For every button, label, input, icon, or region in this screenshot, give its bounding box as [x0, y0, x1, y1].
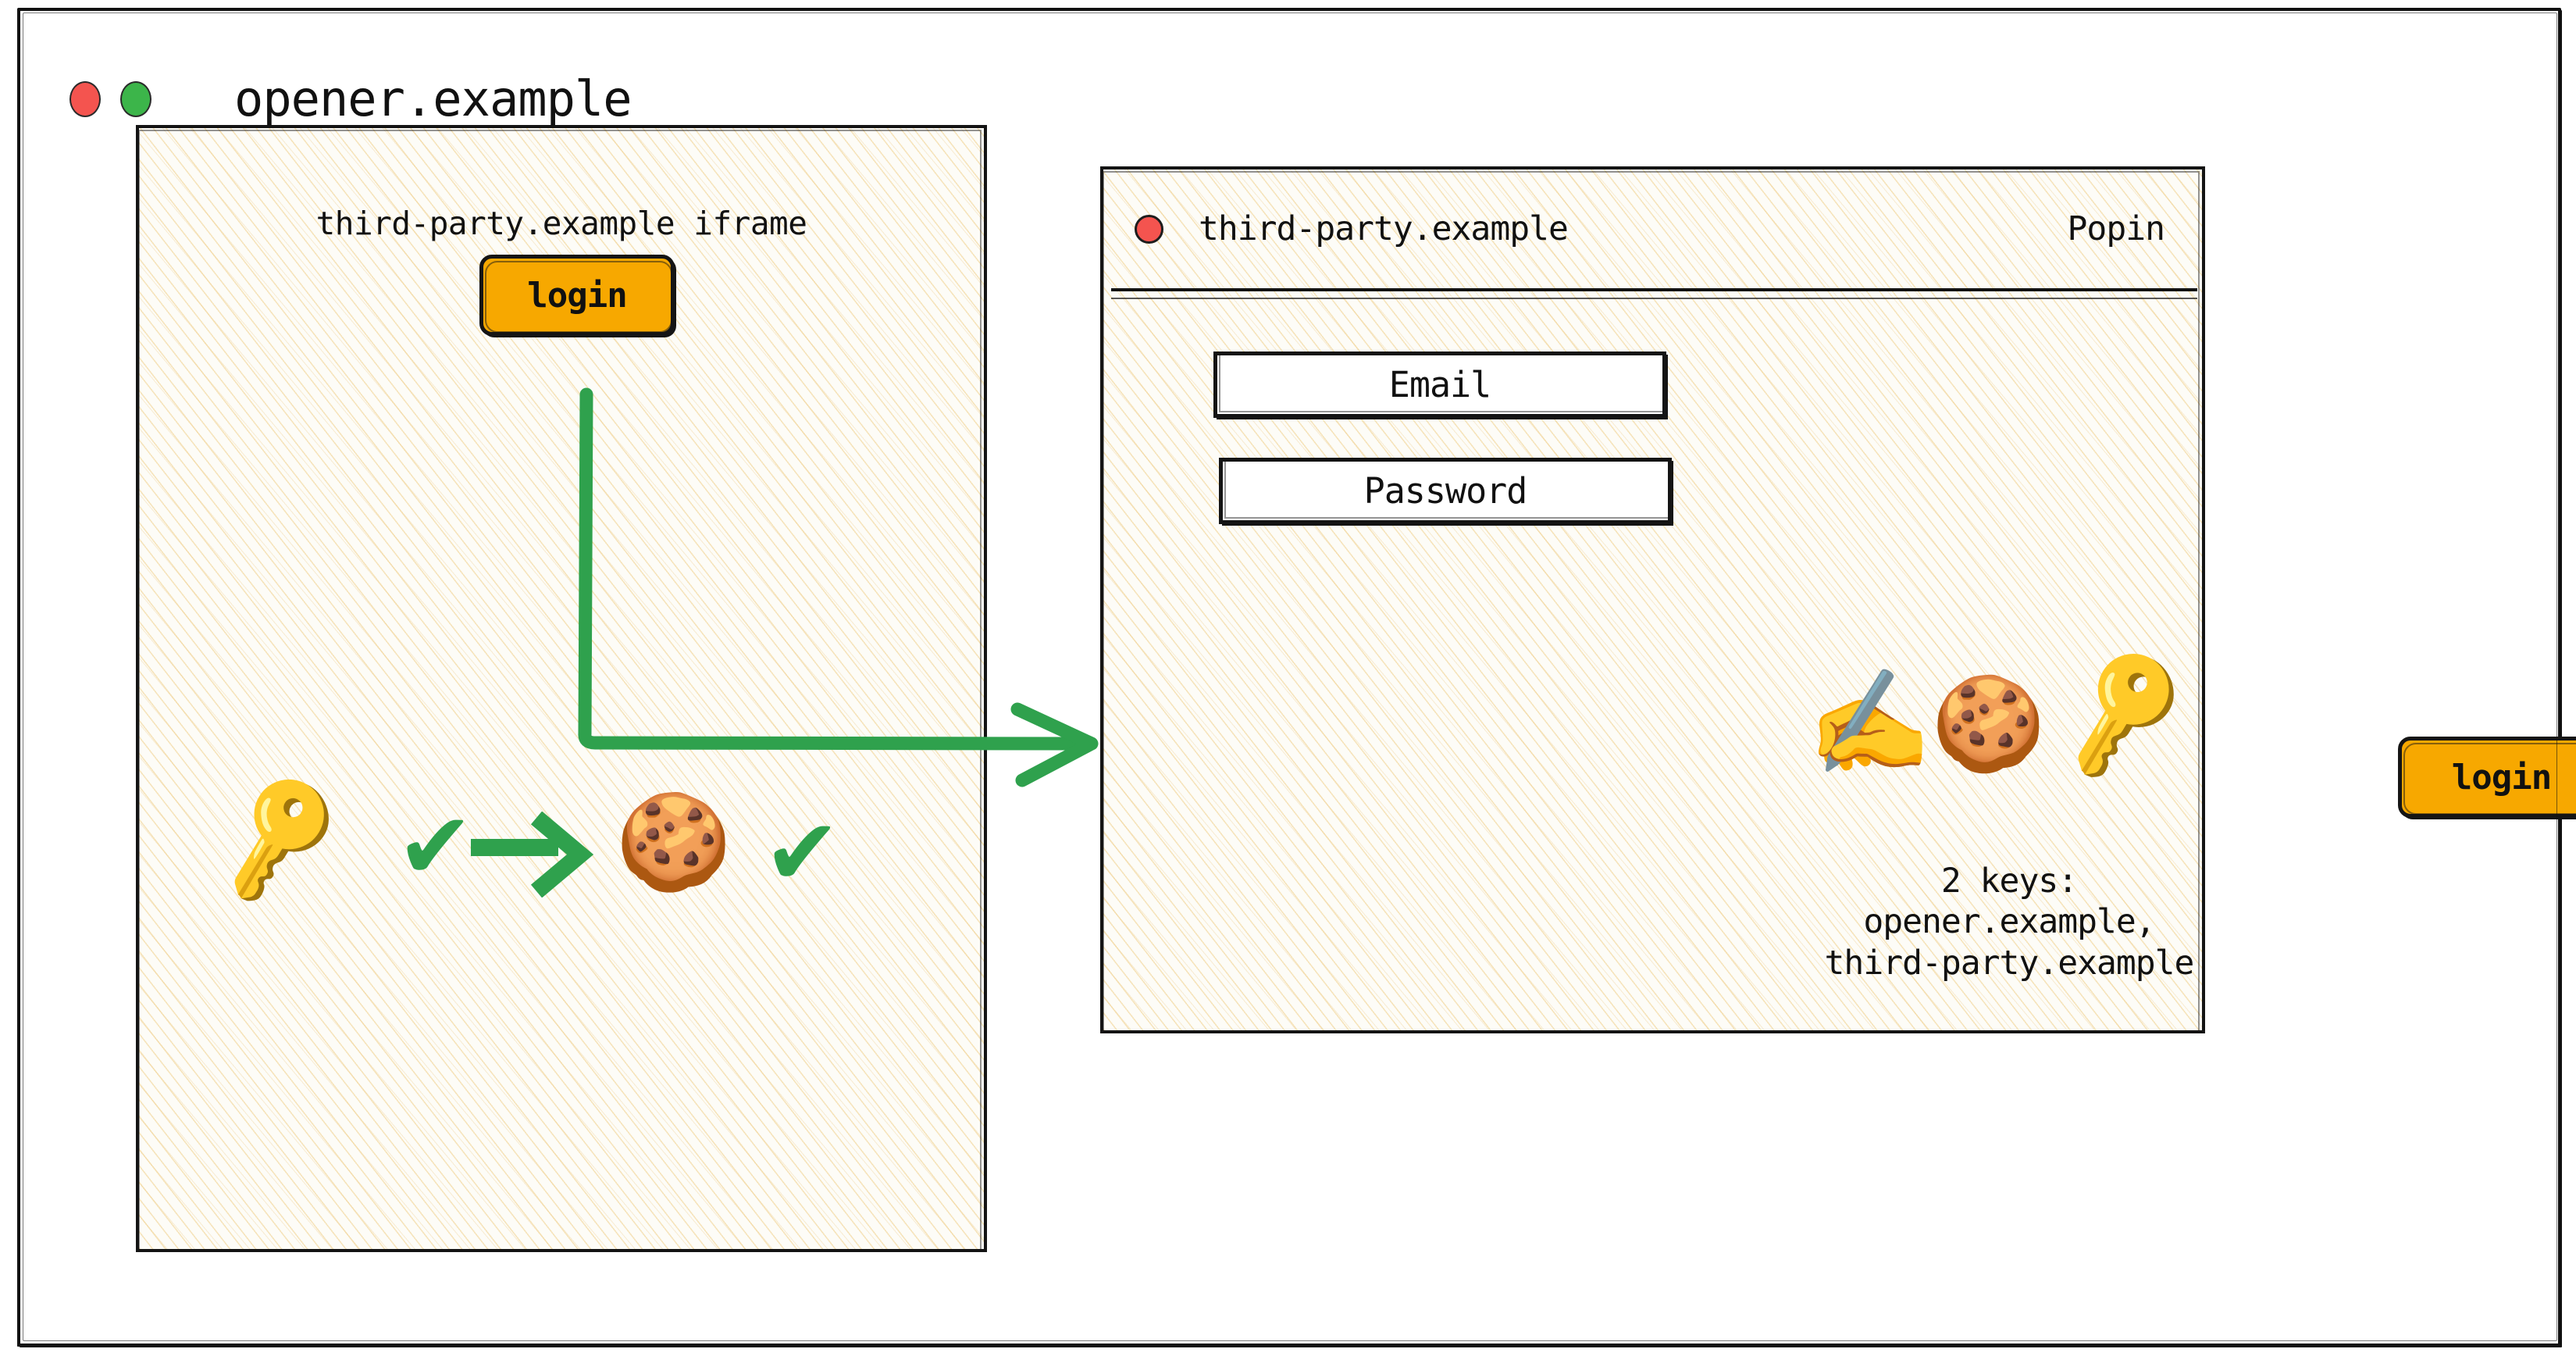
page-viewport: third-party.example iframe login 🔑 ✔ 🍪 ✔…: [20, 187, 2558, 1344]
popin-panel: third-party.example Popin Email Password…: [1100, 166, 2205, 1033]
key-allowed-check-icon: ✔: [397, 800, 474, 892]
third-party-iframe-panel: third-party.example iframe login 🔑 ✔ 🍪 ✔: [136, 125, 987, 1252]
maximize-button[interactable]: [120, 81, 151, 117]
popin-header: third-party.example Popin: [1103, 169, 2202, 288]
key-to-cookie-arrow-icon: [471, 812, 600, 897]
browser-window: opener.example third-party.example ifram…: [17, 8, 2561, 1347]
password-field-value: Password: [1364, 470, 1527, 512]
popin-close-button[interactable]: [1135, 215, 1163, 244]
email-field[interactable]: Email: [1213, 351, 1666, 418]
close-button[interactable]: [69, 81, 101, 117]
cookie-allowed-check-icon: ✔: [764, 806, 841, 898]
email-field-value: Email: [1389, 364, 1491, 405]
key-icon: 🔑: [2050, 648, 2197, 776]
keys-note: 2 keys: opener.example, third-party.exam…: [1751, 861, 2267, 983]
popin-login-button[interactable]: login: [2398, 737, 2576, 818]
iframe-login-button[interactable]: login: [479, 255, 675, 336]
window-title: opener.example: [234, 70, 632, 127]
popin-header-divider: [1111, 288, 2197, 299]
popin-mode-label: Popin: [2068, 209, 2164, 248]
popin-title: third-party.example: [1199, 209, 1568, 248]
cookie-icon: 🍪: [1931, 677, 2046, 769]
popin-login-button-label: login: [2452, 758, 2551, 798]
password-field[interactable]: Password: [1219, 458, 1672, 524]
iframe-panel-label: third-party.example iframe: [139, 205, 984, 242]
writing-hand-icon: ✍️: [1803, 669, 1934, 778]
iframe-login-button-label: login: [527, 276, 626, 316]
key-icon: 🔑: [207, 775, 352, 902]
cookie-icon: 🍪: [615, 796, 732, 890]
